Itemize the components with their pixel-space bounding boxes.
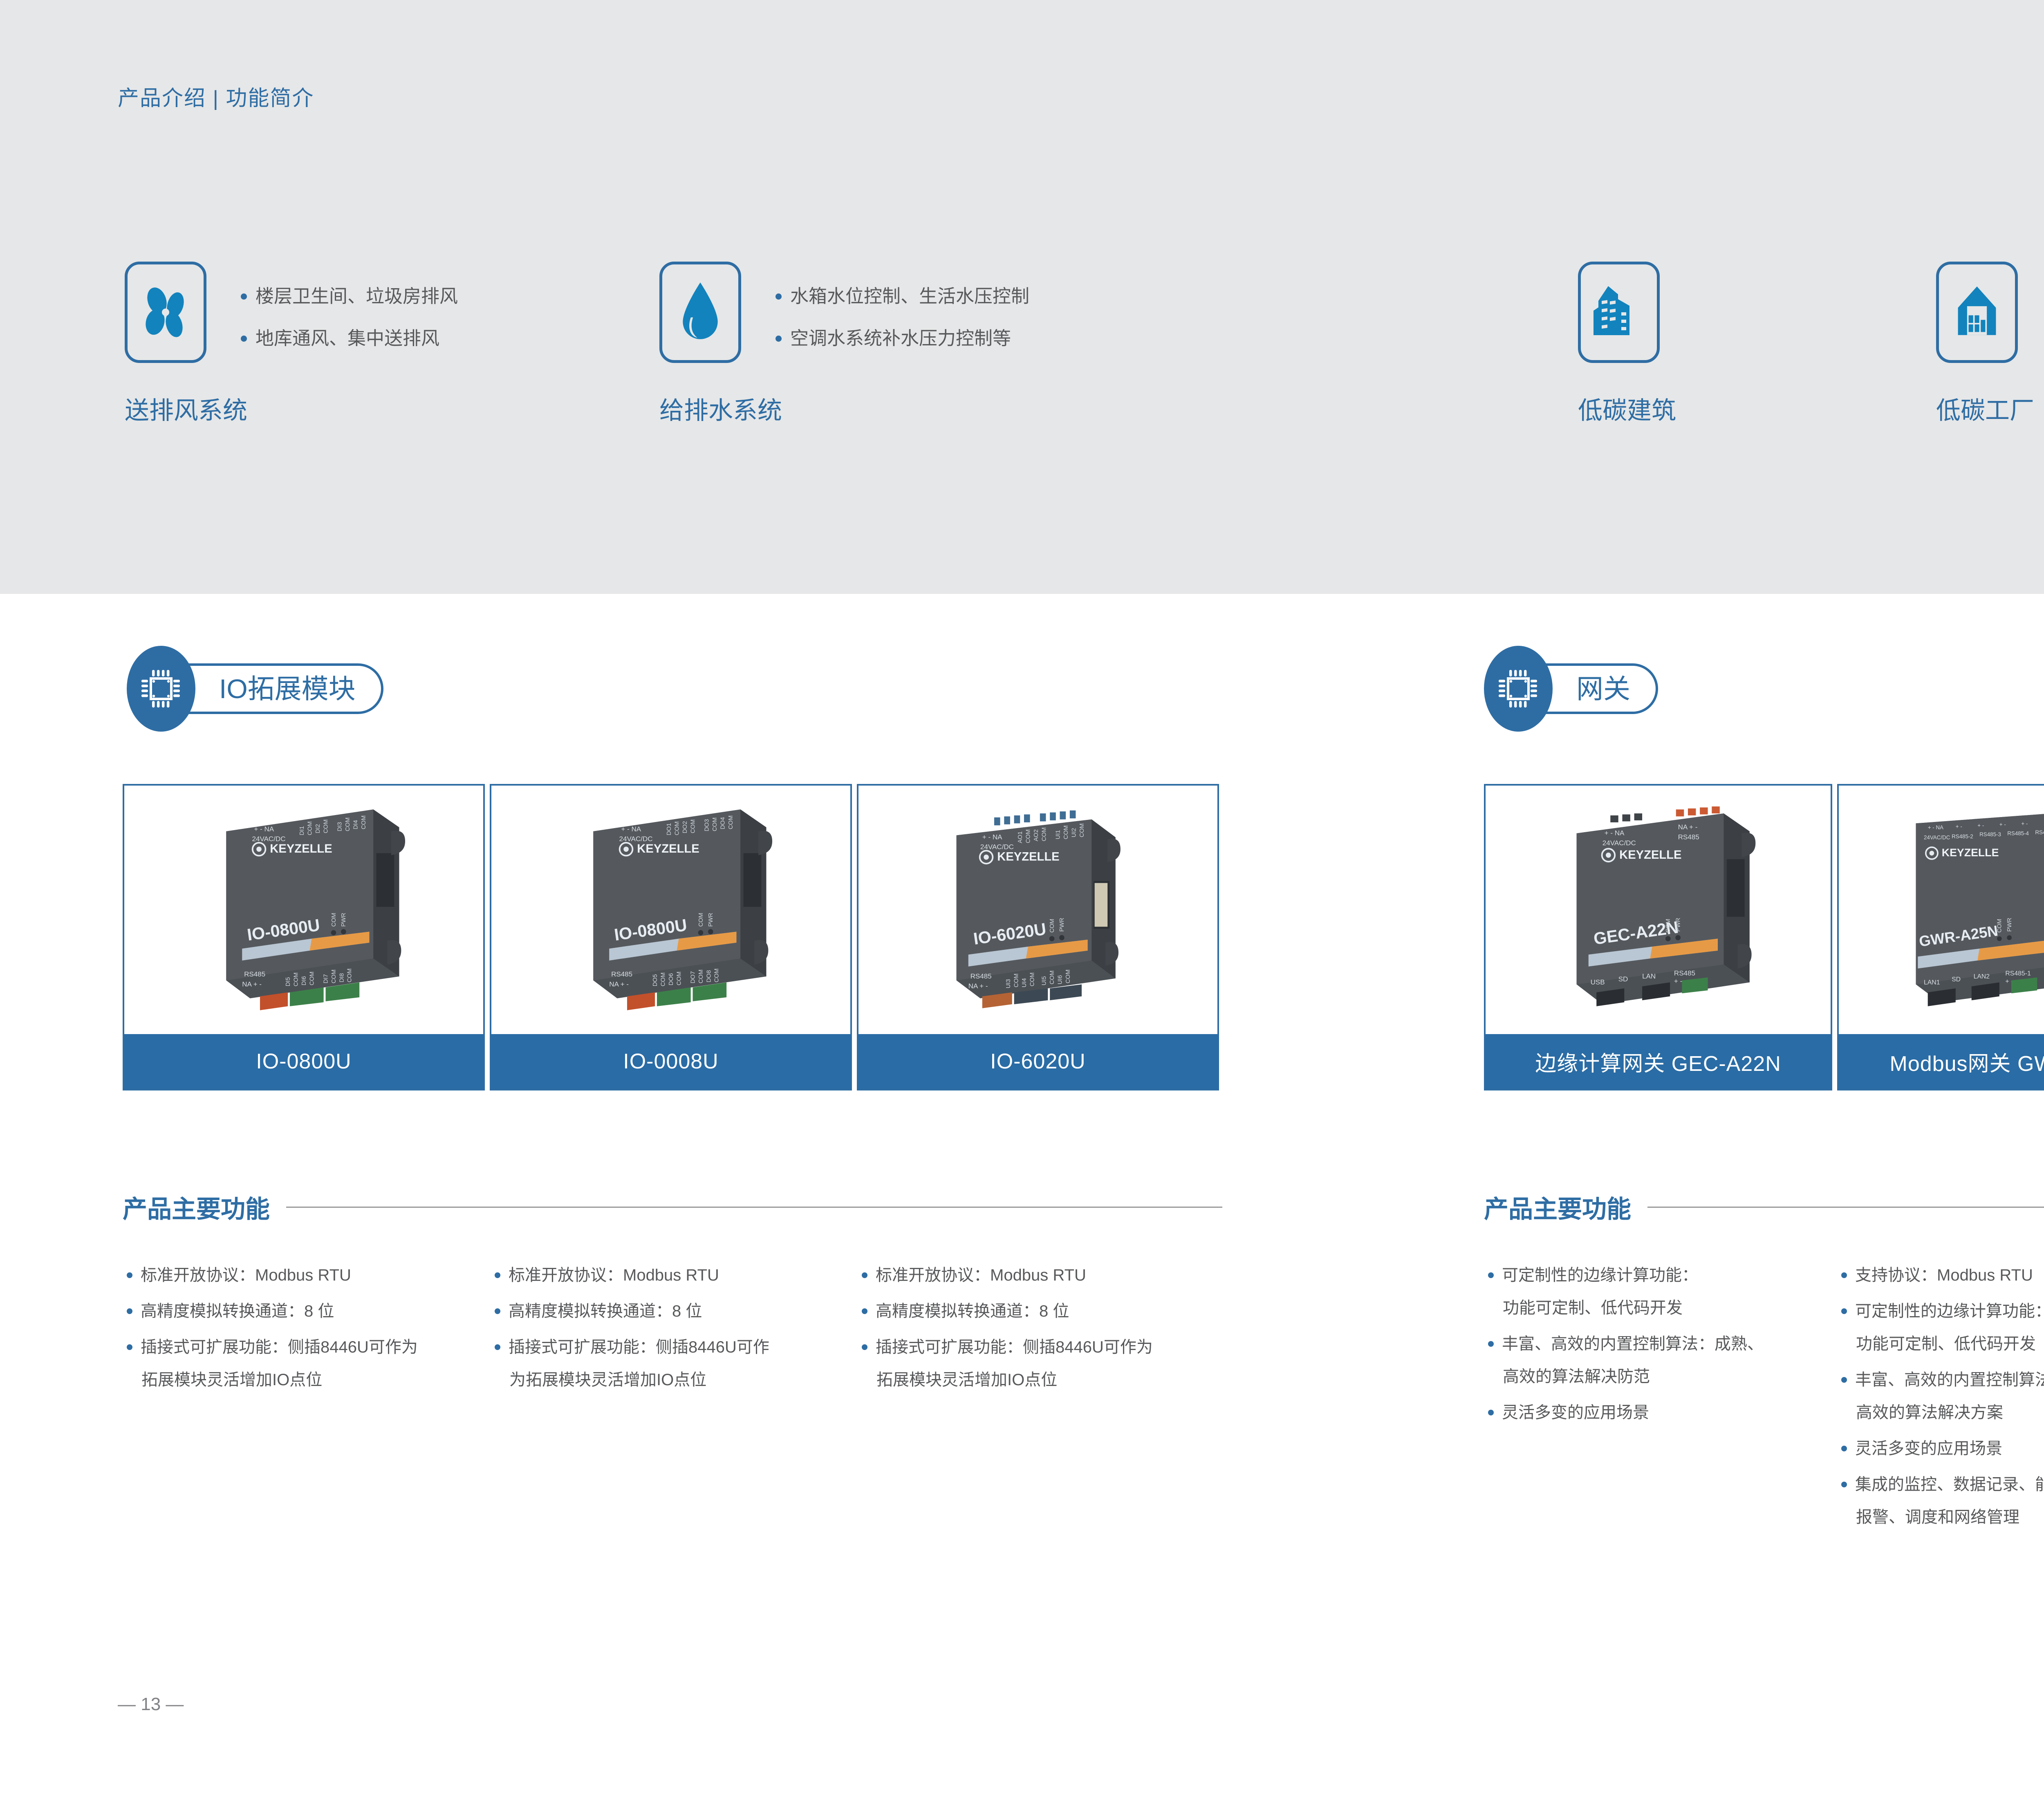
product-card-io-0008u[interactable]: + - NA 24VAC/DC DO1 COM DO2 COM DO3 COM … <box>490 784 852 1090</box>
chip-icon-badge-gateway <box>1484 646 1553 732</box>
feature-text: 标准开放协议：Modbus RTU <box>509 1266 719 1284</box>
svg-text:DO3: DO3 <box>704 819 710 831</box>
svg-text:RS485: RS485 <box>1678 833 1699 841</box>
svg-text:UI5: UI5 <box>1041 976 1047 985</box>
features-title-io: 产品主要功能 <box>123 1189 270 1225</box>
svg-text:COM: COM <box>1025 829 1032 843</box>
svg-text:DO2: DO2 <box>682 821 688 833</box>
svg-text:COM: COM <box>1049 970 1056 984</box>
svg-text:COM: COM <box>331 913 337 927</box>
svg-text:DO4: DO4 <box>719 817 726 829</box>
features-title-gateway: 产品主要功能 <box>1484 1189 1631 1225</box>
svg-text:+ -: + - <box>1977 822 1984 828</box>
svg-text:COM: COM <box>698 913 704 927</box>
svg-text:COM: COM <box>307 822 313 835</box>
feature-text: 支持协议：Modbus RTU <box>1855 1266 2033 1284</box>
features-column-io-2: 标准开放协议：Modbus RTU 高精度模拟转换通道：8 位 插接式可扩展功能… <box>491 1267 850 1408</box>
chip-icon-badge <box>127 646 195 732</box>
svg-text:NA + -: NA + - <box>242 980 262 988</box>
svg-text:DO6: DO6 <box>668 973 675 985</box>
features-heading-io: 产品主要功能 <box>123 1189 1222 1225</box>
svg-text:COM: COM <box>361 815 367 829</box>
list-item: 地库通风、集中送排风 <box>234 329 458 347</box>
section-title-gateway: 网关 <box>1576 675 1630 702</box>
features-heading-gateway: 产品主要功能 <box>1484 1189 2044 1225</box>
features-column-gateway-2: 支持协议：Modbus RTU 可定制性的边缘计算功能：功能可定制、低代码开发 … <box>1837 1267 2044 1545</box>
svg-text:24VAC/DC: 24VAC/DC <box>980 843 1014 851</box>
svg-text:+ - NA: + - NA <box>621 825 641 833</box>
chip-icon <box>1497 667 1540 710</box>
svg-text:24VAC/DC: 24VAC/DC <box>619 835 653 843</box>
svg-text:PWR: PWR <box>341 913 347 927</box>
svg-text:COM: COM <box>1013 974 1020 987</box>
svg-text:COM: COM <box>293 972 299 986</box>
list-item: 标准开放协议：Modbus RTU <box>123 1267 482 1283</box>
svg-text:COM: COM <box>660 972 666 986</box>
product-label-gwr-a25n: Modbus网关 GWR-A25N <box>1890 1046 2044 1077</box>
feature-text: 可定制性的边缘计算功能： <box>1502 1266 1698 1284</box>
list-item: 水箱水位控制、生活水压控制 <box>769 287 1029 305</box>
features-rule-io <box>286 1207 1222 1208</box>
svg-text:COM: COM <box>331 970 337 983</box>
svg-text:RS485-5: RS485-5 <box>2035 829 2044 835</box>
feature-text: 插接式可扩展功能：侧插8446U可作 <box>509 1338 769 1356</box>
svg-text:DO8: DO8 <box>706 970 712 983</box>
product-label-io-0008u: IO-0008U <box>623 1049 718 1074</box>
svg-text:PWR: PWR <box>1059 918 1065 931</box>
feature-subtext: 为拓展模块灵活增加IO点位 <box>509 1372 850 1388</box>
list-item: 丰富、高效的内置控制算法：成熟、高效的算法解决方案 <box>1837 1372 2044 1421</box>
list-item: 可定制性的边缘计算功能：功能可定制、低代码开发 <box>1484 1267 1836 1316</box>
fan-icon <box>135 282 196 343</box>
svg-text:NA + -: NA + - <box>968 982 988 990</box>
water-drop-icon <box>676 280 725 345</box>
svg-text:COM: COM <box>728 815 734 829</box>
lowcarbon-card-building: 低碳建筑 <box>1578 262 1676 426</box>
svg-text:KEYZELLE: KEYZELLE <box>1619 849 1681 862</box>
chip-icon <box>140 667 182 710</box>
svg-text:AO1: AO1 <box>1017 831 1024 843</box>
svg-text:PWR: PWR <box>708 913 714 927</box>
svg-text:COM: COM <box>345 817 351 831</box>
svg-text:COM: COM <box>1997 919 2003 933</box>
product-label-bar-gec-a22n: 边缘计算网关 GEC-A22N <box>1486 1034 1831 1089</box>
running-header-left: 产品介绍 | 功能简介 <box>118 81 314 112</box>
svg-text:LAN: LAN <box>1642 972 1656 980</box>
list-item: 标准开放协议：Modbus RTU <box>858 1267 1226 1283</box>
svg-text:24VAC/DC: 24VAC/DC <box>1924 834 1950 840</box>
product-image-io-0008u: + - NA 24VAC/DC DO1 COM DO2 COM DO3 COM … <box>491 786 850 1034</box>
svg-text:DO7: DO7 <box>690 971 696 983</box>
svg-text:COM: COM <box>676 972 682 985</box>
svg-text:DI8: DI8 <box>338 973 345 983</box>
feature-subtext: 功能可定制、低代码开发 <box>1503 1300 1836 1316</box>
svg-text:+ - NA: + - NA <box>982 833 1002 841</box>
list-item: 支持协议：Modbus RTU <box>1837 1267 2044 1283</box>
svg-text:COM: COM <box>309 972 315 985</box>
product-image-io-0800u: + - NA 24VAC/DC DI1 COM DI2 COM DI3 COM … <box>124 786 483 1034</box>
svg-text:COM: COM <box>1079 823 1085 837</box>
list-item: 集成的监控、数据记录、能耗计量、报警、调度和网络管理 <box>1837 1476 2044 1525</box>
list-item: 插接式可扩展功能：侧插8446U可作为拓展模块灵活增加IO点位 <box>858 1339 1226 1388</box>
feature-text: 插接式可扩展功能：侧插8446U可作为 <box>876 1338 1153 1356</box>
svg-text:+ -: + - <box>1674 977 1682 985</box>
svg-text:UI2: UI2 <box>1071 828 1077 837</box>
device-photo-io-6020u: + - NA 24VAC/DC AO1 COM AO2 COM UI1 COM … <box>858 786 1217 1034</box>
list-item: 高精度模拟转换通道：8 位 <box>858 1303 1226 1319</box>
svg-text:DI6: DI6 <box>301 976 307 985</box>
scenario-bullets-ventilation: 楼层卫生间、垃圾房排风 地库通风、集中送排风 <box>234 287 458 371</box>
scenario-bullets-water: 水箱水位控制、生活水压控制 空调水系统补水压力控制等 <box>769 287 1029 371</box>
feature-text: 可定制性的边缘计算功能： <box>1855 1302 2044 1320</box>
svg-text:+ -: + - <box>1999 822 2006 828</box>
scenario-block-water: 给排水系统 水箱水位控制、生活水压控制 空调水系统补水压力控制等 <box>659 262 782 426</box>
svg-text:AO2: AO2 <box>1033 829 1040 841</box>
feature-text: 插接式可扩展功能：侧插8446U可作为 <box>141 1338 418 1356</box>
list-item: 灵活多变的应用场景 <box>1837 1440 2044 1457</box>
svg-text:PWR: PWR <box>1675 918 1682 931</box>
feature-text: 集成的监控、数据记录、能耗计量、 <box>1855 1476 2044 1493</box>
list-item: 楼层卫生间、垃圾房排风 <box>234 287 458 305</box>
section-header-gateway: 网关 <box>1484 646 1658 732</box>
list-item: 高精度模拟转换通道：8 位 <box>491 1303 850 1319</box>
svg-text:RS485: RS485 <box>1674 970 1695 977</box>
feature-text: 标准开放协议：Modbus RTU <box>876 1266 1086 1284</box>
svg-text:24VAC/DC: 24VAC/DC <box>252 835 286 843</box>
svg-text:KEYZELLE: KEYZELLE <box>1942 846 1999 859</box>
svg-text:KEYZELLE: KEYZELLE <box>270 842 332 855</box>
svg-text:COM: COM <box>690 820 696 833</box>
feature-text: 高精度模拟转换通道：8 位 <box>509 1302 702 1320</box>
device-photo-gec-a22n: + - NA 24VAC/DC NA + - RS485 KEYZELLE GE… <box>1486 786 1831 1034</box>
features-column-io-1: 标准开放协议：Modbus RTU 高精度模拟转换通道：8 位 插接式可扩展功能… <box>123 1267 482 1408</box>
svg-text:COM: COM <box>1029 972 1035 986</box>
svg-text:KEYZELLE: KEYZELLE <box>997 851 1059 864</box>
svg-text:DO5: DO5 <box>652 974 659 986</box>
product-label-io-0800u: IO-0800U <box>256 1049 351 1074</box>
list-item: 丰富、高效的内置控制算法：成熟、高效的算法解决防范 <box>1484 1336 1836 1385</box>
list-item: 标准开放协议：Modbus RTU <box>491 1267 850 1283</box>
svg-text:NA + -: NA + - <box>1678 823 1698 831</box>
feature-text: 丰富、高效的内置控制算法：成熟、 <box>1855 1371 2044 1389</box>
feature-subtext: 高效的算法解决防范 <box>1503 1368 1836 1385</box>
lowcarbon-label-building: 低碳建筑 <box>1578 391 1676 426</box>
product-label-gec-a22n: 边缘计算网关 GEC-A22N <box>1535 1046 1781 1077</box>
product-label-bar-io-6020u: IO-6020U <box>858 1034 1217 1089</box>
product-card-gec-a22n[interactable]: + - NA 24VAC/DC NA + - RS485 KEYZELLE GE… <box>1484 784 1832 1090</box>
device-photo-gwr-a25n: + - NA+ - + -+ -+ - 24VAC/DCRS485-2 RS48… <box>1839 786 2044 1034</box>
list-item: 高精度模拟转换通道：8 位 <box>123 1303 482 1319</box>
office-buildings-icon <box>1590 280 1647 345</box>
feature-text: 标准开放协议：Modbus RTU <box>141 1266 351 1284</box>
svg-text:COM: COM <box>1065 970 1071 983</box>
list-item: 插接式可扩展功能：侧插8446U可作为拓展模块灵活增加IO点位 <box>123 1339 482 1388</box>
list-item: 灵活多变的应用场景 <box>1484 1404 1836 1421</box>
section-title-io-module: IO拓展模块 <box>219 675 356 702</box>
product-image-gec-a22n: + - NA 24VAC/DC NA + - RS485 KEYZELLE GE… <box>1486 786 1831 1034</box>
water-drop-icon-frame <box>659 262 741 363</box>
svg-text:COM: COM <box>712 817 718 831</box>
brochure-page: 产品介绍 | 功能简介 产品介绍 | 功能简介 送排风系统 楼层卫生间、垃圾房排… <box>0 0 2044 1798</box>
svg-text:DO1: DO1 <box>666 823 672 835</box>
product-card-io-6020u[interactable]: + - NA 24VAC/DC AO1 COM AO2 COM UI1 COM … <box>857 784 1219 1090</box>
feature-subtext: 高效的算法解决方案 <box>1856 1404 2044 1421</box>
svg-text:DI5: DI5 <box>285 977 291 987</box>
svg-text:DI3: DI3 <box>336 822 343 831</box>
product-card-io-0800u[interactable]: + - NA 24VAC/DC DI1 COM DI2 COM DI3 COM … <box>123 784 485 1090</box>
feature-subtext: 报警、调度和网络管理 <box>1856 1509 2044 1525</box>
feature-text: 高精度模拟转换通道：8 位 <box>141 1302 334 1320</box>
features-column-io-3: 标准开放协议：Modbus RTU 高精度模拟转换通道：8 位 插接式可扩展功能… <box>858 1267 1226 1408</box>
svg-text:DI4: DI4 <box>352 820 359 829</box>
scenario-block-ventilation: 送排风系统 楼层卫生间、垃圾房排风 地库通风、集中送排风 <box>125 262 247 426</box>
lowcarbon-label-factory: 低碳工厂 <box>1936 391 2034 426</box>
svg-text:UI4: UI4 <box>1021 978 1028 987</box>
office-buildings-icon-frame <box>1578 262 1660 363</box>
features-column-gateway-1: 可定制性的边缘计算功能：功能可定制、低代码开发 丰富、高效的内置控制算法：成熟、… <box>1484 1267 1836 1440</box>
list-item: 插接式可扩展功能：侧插8446U可作为拓展模块灵活增加IO点位 <box>491 1339 850 1388</box>
svg-text:+ - NA: + - NA <box>1928 824 1943 831</box>
svg-text:COM: COM <box>714 969 720 983</box>
page-number-left: — 13 — <box>118 1694 184 1715</box>
product-label-bar-gwr-a25n: Modbus网关 GWR-A25N <box>1839 1034 2044 1089</box>
feature-text: 丰富、高效的内置控制算法：成熟、 <box>1502 1335 1764 1353</box>
svg-text:+ - NA: + - NA <box>254 825 274 833</box>
svg-text:RS485-4: RS485-4 <box>2007 831 2029 837</box>
svg-text:DI2: DI2 <box>315 824 321 833</box>
section-header-io-module: IO拓展模块 <box>127 646 383 732</box>
svg-text:24VAC/DC: 24VAC/DC <box>1602 839 1636 847</box>
device-photo-io-0008u: + - NA 24VAC/DC DO1 COM DO2 COM DO3 COM … <box>491 786 850 1034</box>
svg-text:COM: COM <box>347 969 353 983</box>
lowcarbon-card-factory: 低碳工厂 <box>1936 262 2034 426</box>
svg-text:+ - NA: + - NA <box>1605 829 1625 837</box>
svg-text:RS485-1: RS485-1 <box>2005 970 2031 977</box>
feature-subtext: 拓展模块灵活增加IO点位 <box>141 1372 482 1388</box>
svg-text:RS485: RS485 <box>970 972 992 980</box>
svg-text:RS485-3: RS485-3 <box>1979 831 2001 837</box>
feature-text: 灵活多变的应用场景 <box>1502 1404 1649 1422</box>
svg-text:RS485: RS485 <box>244 970 265 978</box>
product-label-bar-io-0008u: IO-0008U <box>491 1034 850 1089</box>
product-label-bar-io-0800u: IO-0800U <box>124 1034 483 1089</box>
svg-text:UI6: UI6 <box>1057 975 1063 985</box>
svg-text:COM: COM <box>1041 827 1047 841</box>
product-card-gwr-a25n[interactable]: + - NA+ - + -+ -+ - 24VAC/DCRS485-2 RS48… <box>1837 784 2044 1090</box>
svg-text:NA + -: NA + - <box>609 980 629 988</box>
feature-subtext: 拓展模块灵活增加IO点位 <box>876 1372 1226 1388</box>
fan-icon-frame <box>125 262 206 363</box>
svg-text:RS485-2: RS485-2 <box>1952 833 1973 840</box>
factory-icon <box>1950 280 2004 345</box>
feature-subtext: 功能可定制、低代码开发 <box>1856 1336 2044 1352</box>
feature-text: 灵活多变的应用场景 <box>1855 1440 2002 1458</box>
product-image-gwr-a25n: + - NA+ - + -+ -+ - 24VAC/DCRS485-2 RS48… <box>1839 786 2044 1034</box>
svg-text:DI1: DI1 <box>299 826 305 835</box>
svg-text:COM: COM <box>1665 919 1672 933</box>
factory-icon-frame <box>1936 262 2018 363</box>
scenario-label-ventilation: 送排风系统 <box>125 391 247 426</box>
svg-text:COM: COM <box>323 820 329 833</box>
product-label-io-6020u: IO-6020U <box>990 1049 1085 1074</box>
svg-text:LAN1: LAN1 <box>1924 979 1940 986</box>
svg-text:+ -: + - <box>1956 824 1962 830</box>
svg-text:PWR: PWR <box>2006 918 2013 931</box>
features-rule-gateway <box>1647 1207 2044 1208</box>
svg-text:COM: COM <box>1063 825 1069 839</box>
svg-text:DI7: DI7 <box>323 974 329 983</box>
svg-text:USB: USB <box>1591 978 1605 986</box>
svg-text:COM: COM <box>698 970 704 983</box>
svg-text:KEYZELLE: KEYZELLE <box>637 842 699 855</box>
svg-text:UI1: UI1 <box>1055 830 1062 840</box>
list-item: 空调水系统补水压力控制等 <box>769 329 1029 347</box>
scenario-label-water: 给排水系统 <box>659 391 782 426</box>
svg-text:SD: SD <box>1952 976 1961 983</box>
svg-text:SD: SD <box>1618 975 1628 983</box>
product-image-io-6020u: + - NA 24VAC/DC AO1 COM AO2 COM UI1 COM … <box>858 786 1217 1034</box>
svg-text:COM: COM <box>1049 919 1056 933</box>
svg-text:COM: COM <box>674 822 680 835</box>
svg-text:LAN2: LAN2 <box>1974 973 1990 980</box>
svg-text:+ -: + - <box>2021 820 2028 826</box>
device-photo-io-0800u: + - NA 24VAC/DC DI1 COM DI2 COM DI3 COM … <box>124 786 483 1034</box>
svg-text:RS485: RS485 <box>611 970 632 978</box>
list-item: 可定制性的边缘计算功能：功能可定制、低代码开发 <box>1837 1303 2044 1352</box>
svg-text:UI3: UI3 <box>1005 979 1012 988</box>
feature-text: 高精度模拟转换通道：8 位 <box>876 1302 1069 1320</box>
